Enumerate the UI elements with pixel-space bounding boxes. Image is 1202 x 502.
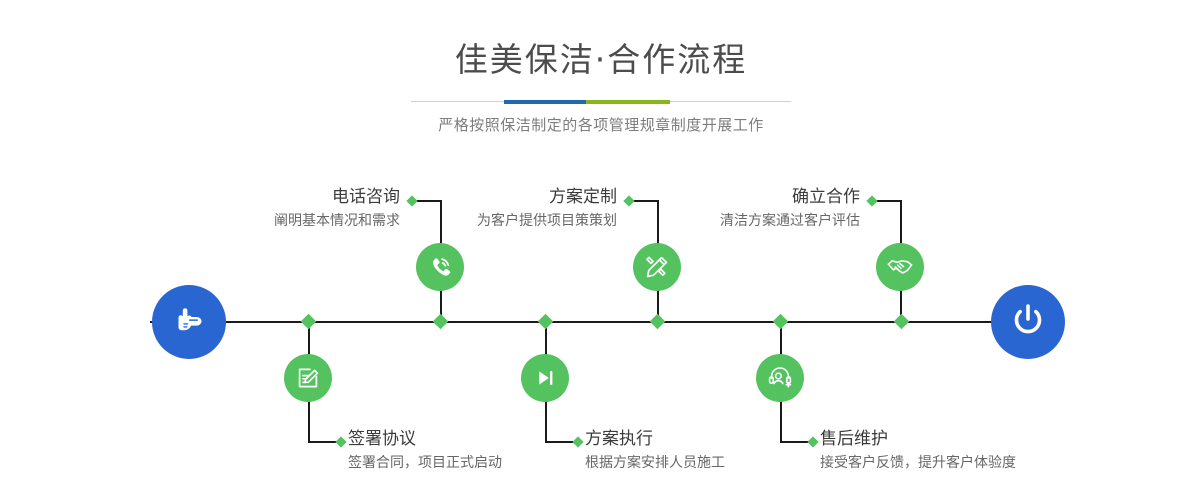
page-title: 佳美保洁·合作流程 <box>0 0 1202 82</box>
phone-call-icon[interactable] <box>416 243 464 291</box>
hand-pointing-right-icon <box>169 300 209 345</box>
step-label-group: 确立合作 清洁方案通过客户评估 <box>530 186 860 232</box>
power-icon <box>1007 299 1049 346</box>
step-title: 售后维护 <box>820 428 1202 450</box>
step-title: 确立合作 <box>530 186 860 208</box>
timeline-end-node[interactable] <box>991 285 1065 359</box>
step-desc: 接受客户反馈，提升客户体验度 <box>820 450 1202 474</box>
play-execute-icon[interactable] <box>521 354 569 402</box>
process-flow-infographic: 佳美保洁·合作流程 严格按照保洁制定的各项管理规章制度开展工作 <box>0 0 1202 502</box>
page-subtitle: 严格按照保洁制定的各项管理规章制度开展工作 <box>0 104 1202 136</box>
step-label-group: 售后维护 接受客户反馈，提升客户体验度 <box>820 428 1202 474</box>
divider-segment-blue <box>504 100 586 104</box>
axis-marker <box>538 314 554 330</box>
connector-marker <box>866 195 877 206</box>
pencil-ruler-icon[interactable] <box>633 243 681 291</box>
divider-segment-green <box>586 100 670 104</box>
connector-marker <box>335 436 346 447</box>
timeline-start-node[interactable] <box>152 285 226 359</box>
axis-marker <box>650 314 666 330</box>
axis-marker <box>433 314 449 330</box>
customer-service-add-icon[interactable] <box>756 354 804 402</box>
axis-marker <box>773 314 789 330</box>
handshake-icon[interactable] <box>876 243 924 291</box>
document-edit-icon[interactable] <box>284 354 332 402</box>
step-desc: 清洁方案通过客户评估 <box>530 208 860 232</box>
header: 佳美保洁·合作流程 严格按照保洁制定的各项管理规章制度开展工作 <box>0 0 1202 136</box>
axis-marker <box>301 314 317 330</box>
axis-marker <box>894 314 910 330</box>
title-divider <box>411 100 791 104</box>
